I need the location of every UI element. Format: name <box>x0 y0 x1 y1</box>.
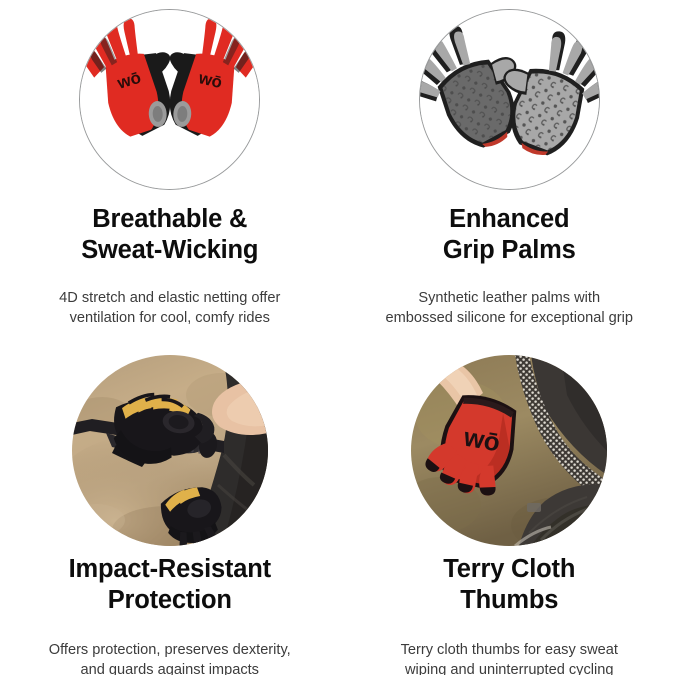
feature-title: Terry Cloth Thumbs <box>443 554 575 616</box>
gloved-hand-on-handlebar-image <box>72 355 268 546</box>
feature-grid: wō <box>0 0 679 675</box>
feature-description: Synthetic leather palms with embossed si… <box>386 288 633 328</box>
feature-description: Offers protection, preserves dexterity, … <box>49 640 291 675</box>
feature-card-terry-cloth-thumbs: wō Terry Cloth Thumbs Terry cloth thumbs… <box>340 338 679 675</box>
svg-text:wō: wō <box>461 421 503 457</box>
red-black-gloves-pair-image: wō <box>79 9 260 190</box>
feature-card-breathable-sweat-wicking: wō <box>0 0 340 338</box>
feature-card-enhanced-grip-palms: Enhanced Grip Palms Synthetic leather pa… <box>340 0 679 338</box>
feature-title: Breathable & Sweat-Wicking <box>81 204 258 266</box>
feature-description: Terry cloth thumbs for easy sweat wiping… <box>401 640 618 675</box>
feature-description: 4D stretch and elastic netting offer ven… <box>59 288 280 328</box>
feature-title: Enhanced Grip Palms <box>443 204 576 266</box>
feature-title: Impact-Resistant Protection <box>69 554 271 616</box>
red-glove-wiping-sweat-image: wō <box>411 355 607 546</box>
feature-card-impact-resistant-protection: Impact-Resistant Protection Offers prote… <box>0 338 340 675</box>
gray-silicone-palm-gloves-image <box>419 9 600 190</box>
